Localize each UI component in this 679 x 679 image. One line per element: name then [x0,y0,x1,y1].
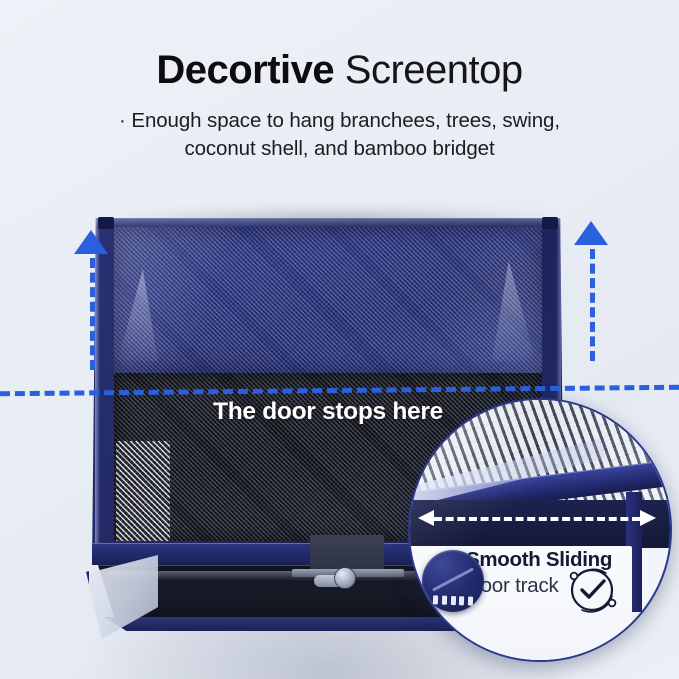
dial-tick [433,595,438,604]
arrow-triangle-left [74,230,108,254]
dial-tick [450,596,455,605]
arrow-head-right [640,510,656,526]
arrow-dashed-line [434,517,640,521]
dial-ticks [433,595,473,605]
door-lock-knob [334,567,356,589]
double-headed-dashed-arrow-icon [418,510,656,526]
arrow-dashed-stem-right [590,249,595,361]
subtitle-line-2: coconut shell, and bamboo bridget [0,135,679,163]
subtitle-line-1: · Enough space to hang branchees, trees,… [0,107,679,135]
title-bold-word: Decortive [156,48,334,92]
arrow-head-left [418,510,434,526]
title-light-word: Screentop [345,48,523,92]
corner-bracket-top-left [98,217,114,229]
corner-bracket-top-right [542,217,558,229]
dial-tick [442,596,447,605]
mesh-patch-left [116,441,170,541]
dial-tick [468,597,473,606]
dial-slash [432,567,474,591]
knob-dial-icon [422,550,484,612]
arrow-triangle-right [574,221,608,245]
header-block: Decortive Screentop · Enough space to ha… [0,0,679,163]
subtitle-block: · Enough space to hang branchees, trees,… [0,107,679,163]
dial-tick [459,596,464,605]
page-title: Decortive Screentop [0,47,679,93]
upper-panel-gloss [114,227,542,373]
arrow-dashed-stem-left [90,258,95,370]
check-circle-icon [560,556,624,620]
inset-detail-circle: Smooth Sliding Door track [408,398,672,662]
upper-screen-panel [114,227,542,373]
